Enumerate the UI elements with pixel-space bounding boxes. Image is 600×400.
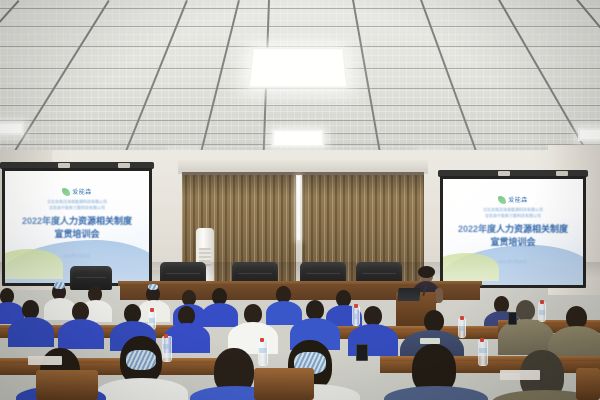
- handout-paper: [28, 356, 62, 365]
- water-bottle: [258, 340, 268, 366]
- person-head: [516, 300, 535, 321]
- person-head: [424, 310, 444, 332]
- hair-bow: [126, 350, 156, 370]
- ceiling-grid-line: [0, 105, 600, 106]
- slide-date: 2022年7月26日: [5, 253, 149, 259]
- led-panel-light-2: [271, 130, 324, 147]
- led-panel-light-1: [248, 48, 349, 89]
- suspended-ceiling: [0, 0, 600, 175]
- person-shirt: [384, 386, 488, 400]
- water-bottle: [478, 340, 488, 366]
- window-light-strip: [297, 176, 300, 240]
- projection-screen-right: 爱能森 爱能森集团海南能源科技有限公司 爱能森中能新兰能科技有限公司 2022年…: [440, 176, 586, 288]
- person-shirt: [96, 378, 188, 400]
- mobile-phone: [508, 312, 517, 325]
- person-vest: [266, 301, 302, 325]
- slide-wave-green: [443, 253, 499, 281]
- screen-glare: [443, 179, 527, 253]
- person-head: [244, 304, 262, 324]
- water-bottle: [352, 306, 360, 326]
- chair-back: [576, 368, 600, 400]
- chair-back: [36, 370, 98, 400]
- curtain-top-shadow: [300, 175, 424, 197]
- person-head: [306, 300, 324, 320]
- curtain-top-shadow: [182, 175, 298, 197]
- slide-date: 2022年7月26日: [443, 259, 583, 265]
- water-bottle: [162, 336, 172, 362]
- led-panel-light-3: [0, 122, 24, 135]
- ceiling-grid-line: [0, 120, 600, 121]
- mobile-phone: [356, 344, 368, 361]
- person-vest: [58, 319, 104, 349]
- presenter-arm-right: [435, 288, 443, 303]
- conference-room-photo: 爱能森 爱能森集团海南能源科技有限公司 爱能森中能新兰能科技有限公司 2022年…: [0, 0, 600, 400]
- screen-glare: [5, 171, 91, 249]
- ceiling-grid-line: [0, 8, 600, 9]
- water-bottle: [538, 302, 546, 322]
- water-bottle: [458, 318, 466, 338]
- person-vest: [8, 317, 54, 347]
- chair-back: [254, 368, 314, 400]
- person-vest: [202, 303, 238, 327]
- presenter-hair: [418, 266, 435, 278]
- presentation-slide-right: 爱能森 爱能森集团海南能源科技有限公司 爱能森中能新兰能科技有限公司 2022年…: [443, 179, 583, 285]
- hair-bow: [54, 282, 65, 289]
- presenter-laptop: [397, 288, 420, 301]
- uniform-badge: [420, 338, 440, 344]
- handout-paper: [500, 370, 540, 380]
- led-panel-light-4: [578, 128, 600, 141]
- hair-bow: [148, 284, 158, 290]
- person-head: [364, 306, 382, 326]
